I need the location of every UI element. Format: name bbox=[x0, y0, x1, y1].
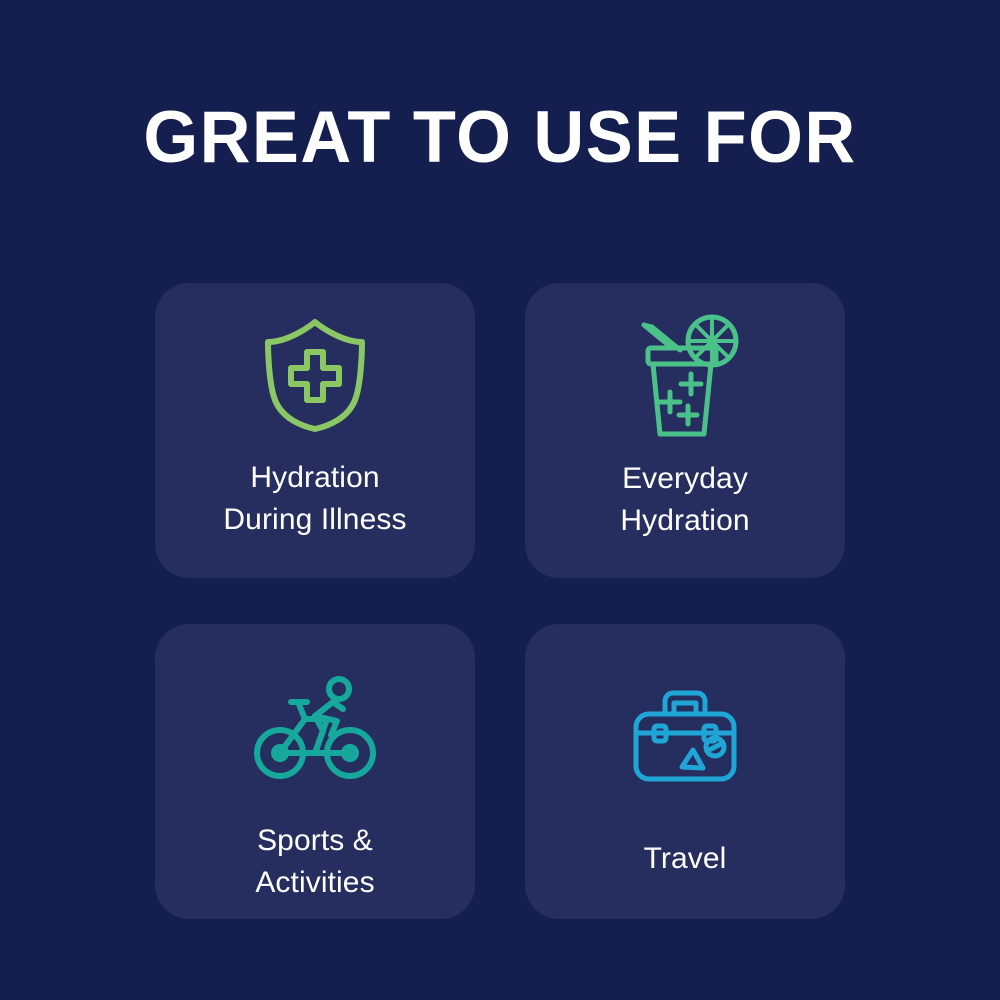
card-label: Hydration During Illness bbox=[223, 457, 406, 541]
promo-graphic: GREAT TO USE FOR Hydration During Illnes… bbox=[0, 0, 1000, 1000]
card-everyday-hydration[interactable]: Everyday Hydration bbox=[525, 283, 845, 578]
drink-glass-icon bbox=[630, 308, 740, 440]
card-label: Sports & Activities bbox=[255, 820, 374, 904]
card-travel[interactable]: Travel bbox=[525, 624, 845, 919]
benefits-grid: Hydration During Illness bbox=[155, 283, 845, 919]
shield-cross-icon bbox=[263, 315, 367, 435]
card-label: Everyday Hydration bbox=[620, 458, 749, 542]
page-title: GREAT TO USE FOR bbox=[18, 98, 983, 178]
suitcase-icon bbox=[633, 676, 737, 794]
card-sports-and-activities[interactable]: Sports & Activities bbox=[155, 624, 475, 919]
card-label: Travel bbox=[644, 838, 727, 880]
card-hydration-during-illness[interactable]: Hydration During Illness bbox=[155, 283, 475, 578]
cyclist-icon bbox=[253, 664, 377, 786]
